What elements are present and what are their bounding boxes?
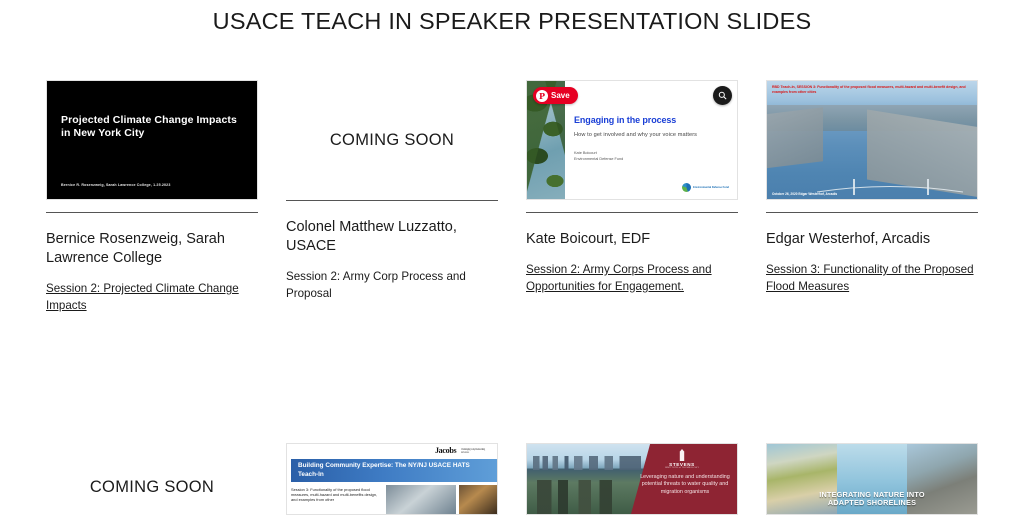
page-title: USACE TEACH IN SPEAKER PRESENTATION SLID… [0,0,1024,36]
stevens-logo-sub: INSTITUTE of TECHNOLOGY [661,467,703,469]
session-link[interactable]: Session 2: Army Corps Process and Opport… [526,262,738,295]
divider [286,200,498,201]
card-jacobs[interactable]: Jacobs Challenging today. Reinventing to… [286,443,498,515]
slide-jacobs: Jacobs Challenging today. Reinventing to… [287,444,497,514]
thumbnail-jacobs[interactable]: Jacobs Challenging today. Reinventing to… [286,443,498,515]
jacobs-tagline: Challenging today. Reinventing tomorrow. [461,448,491,454]
photo-landmass-left [767,107,823,169]
session-link[interactable]: Session 2: Projected Climate Change Impa… [46,281,258,314]
slide-title: Engaging in the process [574,115,727,125]
photo-towers [537,480,641,514]
page-root: USACE TEACH IN SPEAKER PRESENTATION SLID… [0,0,1024,515]
slide-author: Kate Boicourt Environmental Defense Fund [574,150,727,162]
slide-title: Building Community Expertise: The NY/NJ … [291,462,497,479]
speaker-name: Bernice Rosenzweig, Sarah Lawrence Colle… [46,230,258,268]
slide-text-block: Engaging in the process How to get invol… [574,115,727,162]
divider [766,212,978,213]
slide-photo-skyline [527,444,651,514]
magnifier-icon[interactable] [713,86,732,105]
photo-bridge [815,179,965,195]
card-rosenzweig[interactable]: Projected Climate Change Impacts in New … [46,80,258,314]
edf-logo: Environmental Defense Fund [682,183,729,192]
coming-soon-placeholder: COMING SOON [46,443,258,515]
photo-skyline [533,456,641,470]
thumbnail-boicourt[interactable]: Engaging in the process How to get invol… [526,80,738,200]
speaker-name: Kate Boicourt, EDF [526,230,738,249]
stevens-tower-icon [677,449,688,461]
speaker-name: Colonel Matthew Luzzatto, USACE [286,218,498,256]
slide-title: Projected Climate Change Impacts in New … [61,114,241,140]
pinterest-save-label: Save [551,91,570,100]
slide-image-meeting [459,485,497,514]
card-stevens[interactable]: STEVENS INSTITUTE of TECHNOLOGY Leveragi… [526,443,738,515]
slide-attribution: Bernice R. Rosenzweig, Sarah Lawrence Co… [61,183,170,187]
slide-title-banner: Building Community Expertise: The NY/NJ … [291,459,497,482]
card-westerhof[interactable]: RBD Teach-In, SESSION 3: Functionality o… [766,80,978,314]
card-row2-coming[interactable]: COMING SOON [46,443,258,515]
divider [46,212,258,213]
card-luzzatto[interactable]: COMING SOON Colonel Matthew Luzzatto, US… [286,80,498,314]
edf-logo-label: Environmental Defense Fund [693,186,729,189]
pinterest-icon: P [536,90,548,102]
stevens-logo: STEVENS INSTITUTE of TECHNOLOGY [661,449,703,469]
slide-body-text: Session 3: Functionality of the proposed… [291,485,383,514]
slide-title: Leveraging nature and understanding pote… [639,474,731,496]
slide-image-storm [386,485,456,514]
slide-heading: RBD Teach-In, SESSION 3: Functionality o… [772,85,969,94]
pinterest-save-button[interactable]: P Save [533,87,578,104]
card-shorelines[interactable]: INTEGRATING NATURE INTO ADAPTED SHORELIN… [766,443,978,515]
slide-title-line-2: ADAPTED SHORELINES [767,499,977,508]
thumbnail-stevens[interactable]: STEVENS INSTITUTE of TECHNOLOGY Leveragi… [526,443,738,515]
session-label: Session 2: Army Corp Process and Proposa… [286,269,498,302]
thumbnail-rosenzweig[interactable]: Projected Climate Change Impacts in New … [46,80,258,200]
slide-shorelines: INTEGRATING NATURE INTO ADAPTED SHORELIN… [767,444,977,514]
slides-grid-row-1: Projected Climate Change Impacts in New … [46,80,978,314]
slide-author-org: Environmental Defense Fund [574,156,727,162]
slide-body: Session 3: Functionality of the proposed… [291,485,497,514]
thumbnail-shorelines[interactable]: INTEGRATING NATURE INTO ADAPTED SHORELIN… [766,443,978,515]
slide-black-title: Projected Climate Change Impacts in New … [47,81,257,199]
thumbnail-westerhof[interactable]: RBD Teach-In, SESSION 3: Functionality o… [766,80,978,200]
session-link[interactable]: Session 3: Functionality of the Proposed… [766,262,978,295]
speaker-name: Edgar Westerhof, Arcadis [766,230,978,249]
slide-footer: October 26, 2020 Edgar Westerhof, Arcadi… [772,192,837,196]
slide-stevens: STEVENS INSTITUTE of TECHNOLOGY Leveragi… [527,444,737,514]
jacobs-logo-text: Jacobs [435,446,456,455]
edf-logo-icon [682,183,691,192]
divider [526,212,738,213]
coming-soon-placeholder: COMING SOON [286,80,498,200]
slide-aerial-photo: RBD Teach-In, SESSION 3: Functionality o… [767,81,977,199]
card-boicourt[interactable]: Engaging in the process How to get invol… [526,80,738,314]
slide-title: INTEGRATING NATURE INTO ADAPTED SHORELIN… [767,491,977,508]
jacobs-logo: Jacobs Challenging today. Reinventing to… [435,446,491,455]
slides-grid-row-2: COMING SOON Jacobs Challenging today. Re… [46,443,978,515]
slide-subtitle: How to get involved and why your voice m… [574,132,727,138]
